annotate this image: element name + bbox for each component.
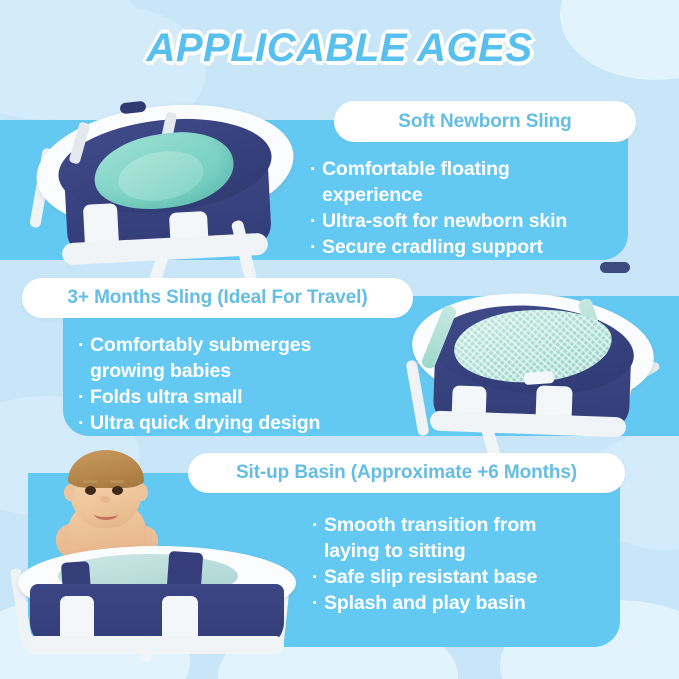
- bullet-line: · Safe slip resistant base: [312, 564, 617, 590]
- bullet-marker: ·: [78, 410, 90, 436]
- sling-buckle: [524, 371, 555, 385]
- bullet-marker: ·: [312, 512, 324, 538]
- baby-ear-left: [64, 484, 76, 501]
- bullet-list-newborn: · Comfortable floating experience · Ultr…: [310, 156, 615, 260]
- infographic-canvas: APPLICABLE AGES Soft Newborn Sling · Com…: [0, 0, 679, 679]
- bullet-marker: ·: [310, 234, 322, 260]
- bullet-line: · Splash and play basin: [312, 590, 617, 616]
- bullet-text: Secure cradling support: [322, 234, 615, 260]
- bullet-marker: ·: [78, 384, 90, 410]
- bullet-marker: ·: [310, 208, 322, 234]
- bullet-marker: ·: [310, 156, 322, 182]
- baby-hair: [68, 450, 144, 488]
- baby-nose: [100, 496, 110, 503]
- baby-ear-right: [136, 484, 148, 501]
- bullet-list-three-plus-months: · Comfortably submerges growing babies ·…: [78, 332, 378, 436]
- bullet-text: Comfortably submerges: [90, 332, 378, 358]
- brand-mark-icon: [600, 262, 630, 273]
- product-photo-sit-up-basin: [8, 498, 308, 662]
- bullet-line: laying to sitting: [312, 538, 617, 564]
- bullet-text: Safe slip resistant base: [324, 564, 617, 590]
- bullet-text: Smooth transition from: [324, 512, 617, 538]
- bullet-text: Comfortable floating: [322, 156, 615, 182]
- bullet-text: Folds ultra small: [90, 384, 378, 410]
- bullet-marker: ·: [78, 332, 90, 358]
- section-heading-label: Sit-up Basin (Approximate +6 Months): [236, 462, 577, 484]
- section-heading-pill-sit-up-basin: Sit-up Basin (Approximate +6 Months): [188, 453, 625, 493]
- bullet-line: · Ultra-soft for newborn skin: [310, 208, 615, 234]
- section-heading-label: 3+ Months Sling (Ideal For Travel): [67, 287, 367, 309]
- section-heading-pill-three-plus-months: 3+ Months Sling (Ideal For Travel): [22, 278, 413, 318]
- bullet-list-sit-up-basin: · Smooth transition from laying to sitti…: [312, 512, 617, 616]
- bullet-line: · Comfortably submerges: [78, 332, 378, 358]
- section-heading-pill-newborn: Soft Newborn Sling: [334, 101, 636, 142]
- bullet-text: Ultra quick drying design: [90, 410, 378, 436]
- bullet-line: · Ultra quick drying design: [78, 410, 378, 436]
- bullet-line: · Smooth transition from: [312, 512, 617, 538]
- bullet-line: growing babies: [78, 358, 378, 384]
- bullet-marker: ·: [312, 564, 324, 590]
- bullet-line: · Secure cradling support: [310, 234, 615, 260]
- baby-eyebrow-left: [83, 480, 97, 483]
- bullet-line: experience: [310, 182, 615, 208]
- tub-leg-center: [140, 638, 152, 662]
- baby-mouth: [94, 508, 118, 520]
- bullet-text: laying to sitting: [324, 538, 617, 564]
- bullet-text: experience: [322, 182, 615, 208]
- bullet-text: Splash and play basin: [324, 590, 617, 616]
- baby-eye-left: [85, 486, 96, 495]
- bullet-text: Ultra-soft for newborn skin: [322, 208, 615, 234]
- bullet-line: · Folds ultra small: [78, 384, 378, 410]
- baby-eye-right: [112, 486, 123, 495]
- baby-eyebrow-right: [110, 480, 124, 483]
- product-photo-three-plus-sling: [398, 286, 668, 464]
- tub-base-bar: [26, 636, 284, 654]
- page-title: APPLICABLE AGES: [0, 26, 679, 71]
- bullet-marker: ·: [312, 590, 324, 616]
- product-photo-newborn-sling: [22, 92, 308, 288]
- bullet-text: growing babies: [90, 358, 378, 384]
- section-heading-label: Soft Newborn Sling: [398, 111, 571, 133]
- bullet-line: · Comfortable floating: [310, 156, 615, 182]
